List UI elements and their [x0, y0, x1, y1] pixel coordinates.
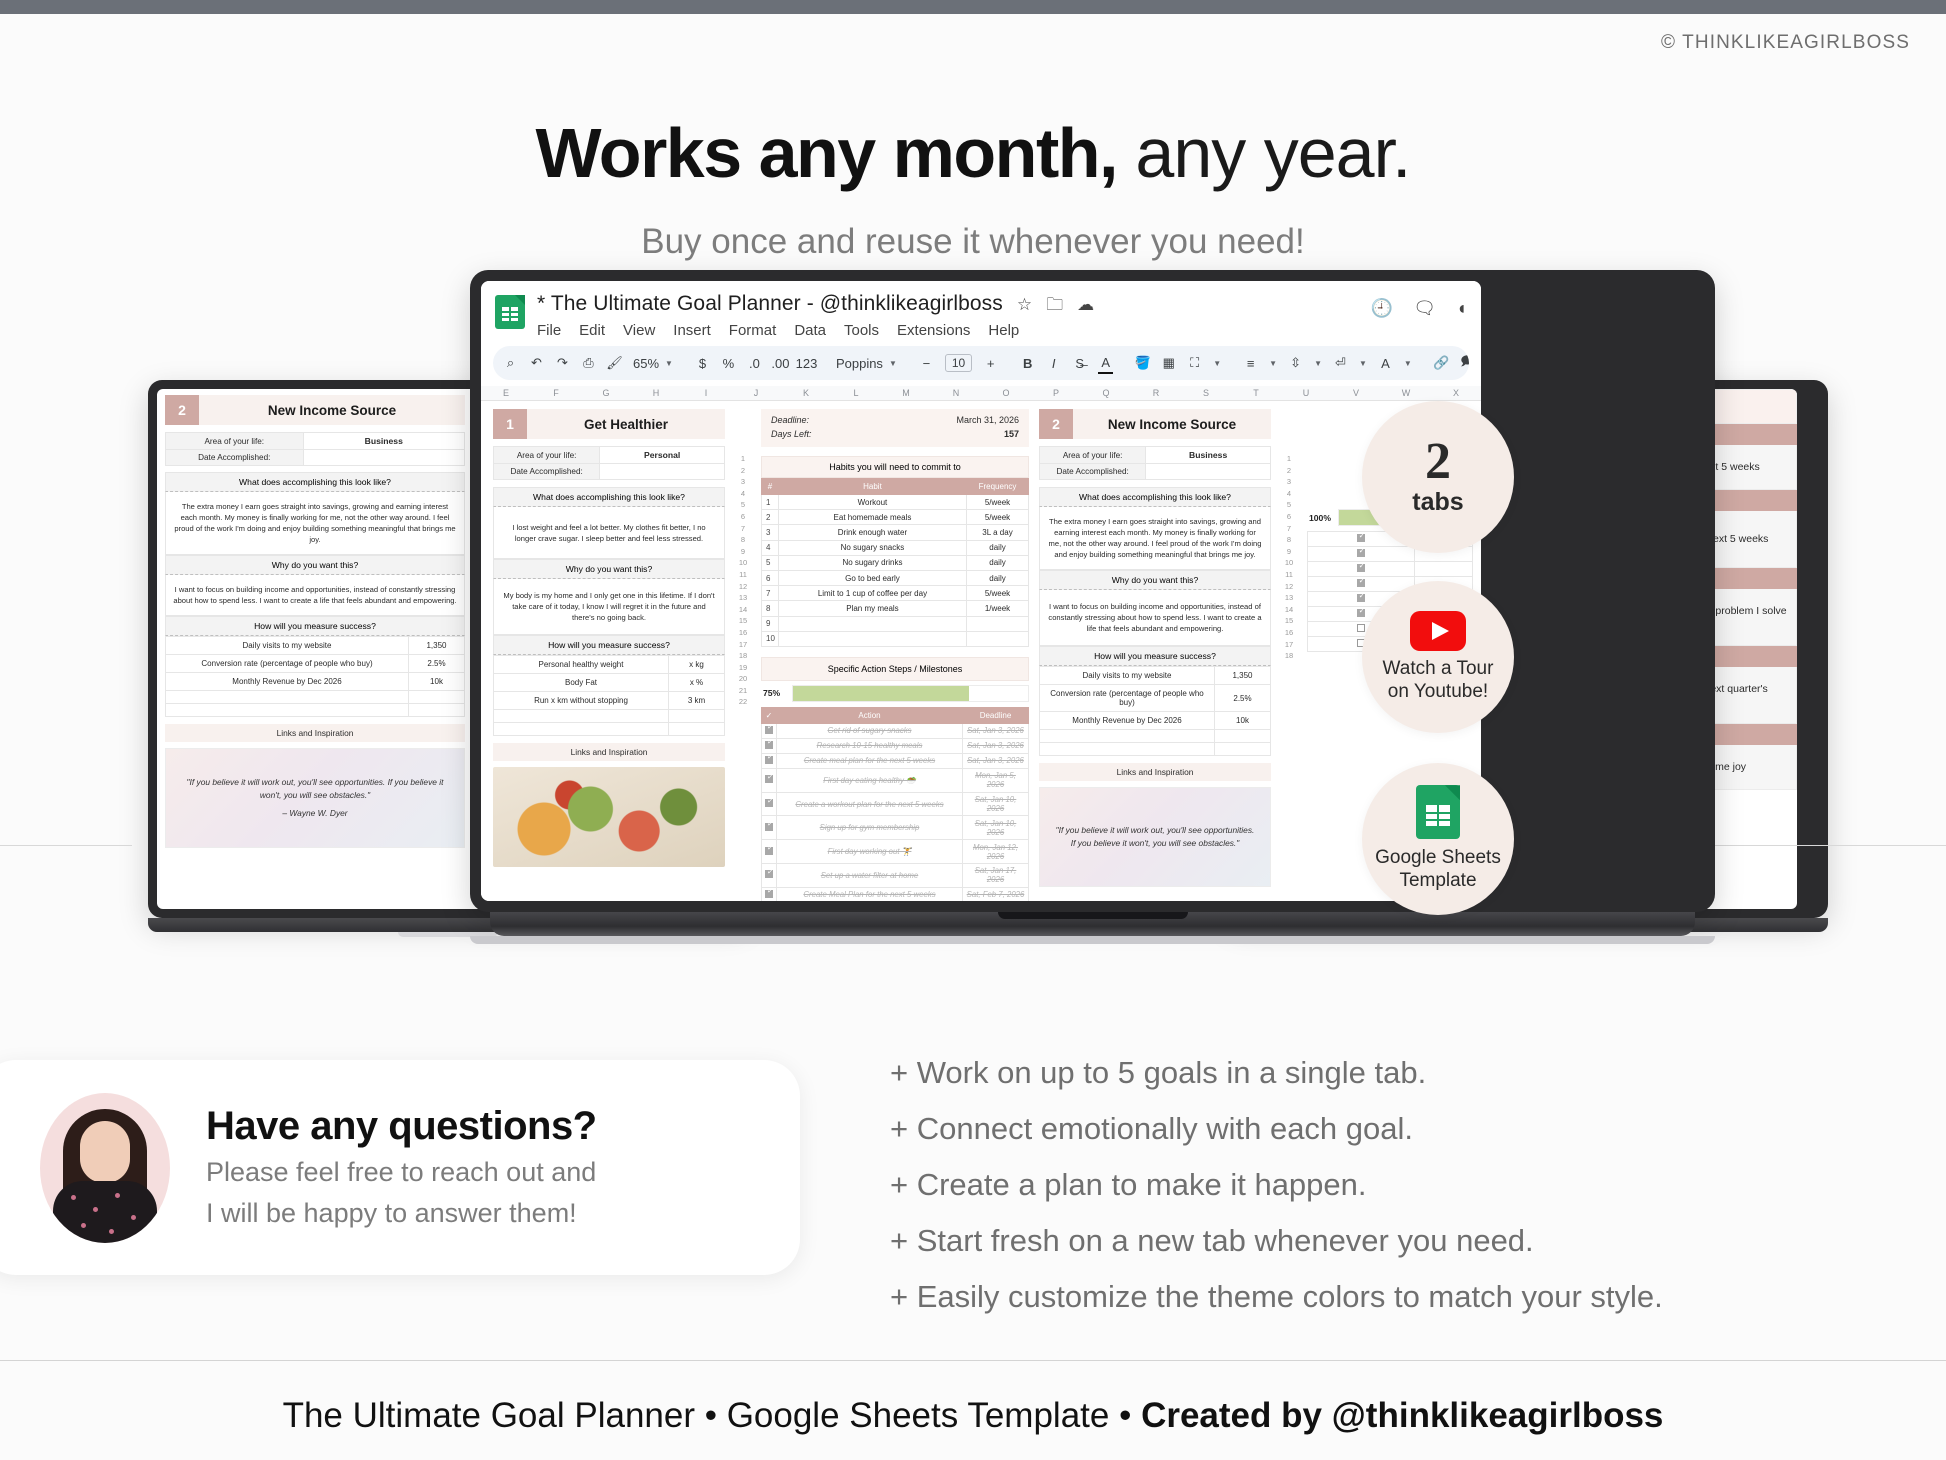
action-row: Get rid of sugary snacksSat, Jan 3, 2026	[762, 723, 1029, 738]
measure-label[interactable]: Monthly Revenue by Dec 2026	[166, 673, 409, 691]
font-selector[interactable]: Poppins ▼	[836, 356, 897, 371]
feature-item: + Start fresh on a new tab whenever you …	[890, 1223, 1663, 1259]
vertical-align-icon[interactable]: ⇳	[1288, 352, 1303, 374]
sheets-titlebar: * The Ultimate Goal Planner - @thinklike…	[481, 281, 1481, 339]
action-text[interactable]: Sign up for gym membership	[777, 816, 963, 840]
goal1-card: 1 Get Healthier Area of your life: Perso…	[493, 409, 725, 901]
paint-format-icon[interactable]: 🖌	[607, 352, 622, 374]
move-to-folder-icon[interactable]: 🗀	[1046, 296, 1063, 313]
measure-label[interactable]	[494, 723, 669, 736]
goal1-title[interactable]: Get Healthier	[527, 409, 725, 439]
menu-view[interactable]: View	[623, 322, 655, 339]
measure-value[interactable]	[409, 691, 465, 704]
look-like-text[interactable]: I lost weight and feel a lot better. My …	[493, 507, 725, 559]
document-title[interactable]: * The Ultimate Goal Planner - @thinklike…	[537, 292, 1003, 316]
date-label: Date Accomplished:	[166, 450, 304, 466]
measure-value[interactable]	[409, 704, 465, 717]
goal1-measures: Personal healthy weightx kg Body Fatx % …	[493, 655, 725, 736]
currency-format-button[interactable]: $	[695, 352, 710, 374]
action-col-check: ✓	[762, 707, 777, 723]
look-like-header: What does accomplishing this look like?	[493, 487, 725, 507]
measure-label[interactable]: Daily visits to my website	[1040, 667, 1215, 685]
action-col-deadline: Deadline	[963, 707, 1029, 723]
habit-name[interactable]: No sugary drinks	[778, 555, 966, 570]
measure-label[interactable]: Daily visits to my website	[166, 637, 409, 655]
area-label: Area of your life:	[166, 433, 304, 450]
habit-frequency[interactable]: 5/week	[967, 495, 1029, 510]
action-deadline[interactable]: Sat, Jan 10, 2026	[963, 792, 1029, 816]
habit-name[interactable]: No sugary snacks	[778, 540, 966, 555]
action-text[interactable]: Create a workout plan for the next 5 wee…	[777, 792, 963, 816]
measure-value[interactable]: 2.5%	[409, 655, 465, 673]
column-header[interactable]: X	[1431, 388, 1481, 398]
action-text[interactable]: Create meal plan for the next 5 weeks	[777, 753, 963, 768]
menu-help[interactable]: Help	[988, 322, 1019, 339]
column-header[interactable]: E	[481, 388, 531, 398]
column-header[interactable]: W	[1381, 388, 1431, 398]
action-checkbox[interactable]	[762, 864, 777, 888]
menu-insert[interactable]: Insert	[673, 322, 711, 339]
habit-row: 4No sugary snacksdaily	[762, 540, 1029, 555]
action-text[interactable]: First day working out 🏋	[777, 840, 963, 864]
google-sheets-icon	[495, 295, 525, 329]
laptop-stage: 2 New Income Source Area of your life: B…	[0, 370, 1946, 1010]
action-checkbox[interactable]	[762, 887, 777, 901]
habit-frequency[interactable]: 3L a day	[967, 525, 1029, 540]
quote-block: "If you believe it will work out, you'll…	[1039, 787, 1271, 887]
text-rotation-icon[interactable]: A	[1378, 352, 1393, 374]
font-name: Poppins	[836, 356, 883, 371]
decrease-font-size-button[interactable]: −	[919, 352, 934, 374]
action-deadline[interactable]: Mon, Jan 12, 2026	[963, 840, 1029, 864]
habit-frequency[interactable]	[967, 631, 1029, 646]
action-row: Research 10-15 healthy mealsSat, Jan 3, …	[762, 738, 1029, 753]
habit-frequency[interactable]: daily	[967, 570, 1029, 585]
goal2-meta: Area of your life: Business Date Accompl…	[1039, 446, 1271, 480]
quote-text: "If you believe it will work out, you'll…	[1054, 824, 1256, 850]
habit-row: 10	[762, 631, 1029, 646]
habit-frequency[interactable]: 5/week	[967, 510, 1029, 525]
headline-bold: Works any month,	[536, 114, 1117, 192]
questions-card: Have any questions? Please feel free to …	[0, 1060, 800, 1275]
column-header[interactable]: R	[1131, 388, 1181, 398]
progress-pct-right: 100%	[1309, 513, 1333, 523]
action-col-action: Action	[777, 707, 963, 723]
menu-data[interactable]: Data	[794, 322, 826, 339]
action-row: Create Meal Plan for the next 5 weeksSat…	[762, 887, 1029, 901]
decrease-decimal-button[interactable]: .0	[747, 352, 762, 374]
milestones-progress: 75%	[761, 681, 1029, 707]
measure-value[interactable]: 1,350	[1215, 667, 1271, 685]
habits-title: Habits you will need to commit to	[761, 456, 1029, 478]
action-checkbox[interactable]	[762, 723, 777, 738]
habit-frequency[interactable]	[967, 616, 1029, 631]
measure-label[interactable]	[494, 710, 669, 723]
footer-bold: Created by @thinklikeagirlboss	[1141, 1396, 1663, 1435]
menu-format[interactable]: Format	[729, 322, 777, 339]
menu-extensions[interactable]: Extensions	[897, 322, 970, 339]
column-header[interactable]: L	[831, 388, 881, 398]
action-deadline[interactable]: Sat, Jan 3, 2026	[963, 753, 1029, 768]
progress-percent: 75%	[763, 688, 787, 698]
left-goal-card: 2 New Income Source Area of your life: B…	[165, 395, 465, 874]
goal1-meta: Area of your life: Personal Date Accompl…	[493, 446, 725, 480]
row-numbers: 12345678910111213141516171819202122	[735, 409, 751, 901]
insert-comment-icon[interactable]: 🗩	[1460, 352, 1469, 374]
action-row: Set up a water filter at homeSat, Jan 17…	[762, 864, 1029, 888]
habit-row: 9	[762, 616, 1029, 631]
goal2-header-left: 2 New Income Source	[165, 395, 465, 425]
measure-label[interactable]	[1040, 743, 1215, 756]
habit-name[interactable]: Drink enough water	[778, 525, 966, 540]
questions-line1: Please feel free to reach out and	[206, 1155, 597, 1190]
action-deadline[interactable]: Sat, Jan 17, 2026	[963, 864, 1029, 888]
goal1-detail-card: Deadline: March 31, 2026 Days Left: 157 …	[761, 409, 1029, 901]
chevron-down-icon[interactable]: ▼	[1314, 359, 1322, 368]
cloud-saved-icon[interactable]: ☁	[1077, 296, 1094, 313]
inspiration-image	[493, 767, 725, 867]
action-checkbox[interactable]	[762, 792, 777, 816]
date-value[interactable]	[1146, 464, 1271, 480]
links-header: Links and Inspiration	[1039, 763, 1271, 781]
column-header[interactable]: P	[1031, 388, 1081, 398]
date-label: Date Accomplished:	[494, 464, 600, 480]
footer-text: The Ultimate Goal Planner • Google Sheet…	[0, 1396, 1946, 1436]
print-icon[interactable]: ⎙	[581, 352, 596, 374]
goal2-title[interactable]: New Income Source	[1073, 409, 1271, 439]
quote-author: – Wayne W. Dyer	[180, 807, 450, 820]
sheets-menubar: File Edit View Insert Format Data Tools …	[537, 322, 1094, 339]
why-header: Why do you want this?	[1039, 570, 1271, 590]
action-row: First day eating healthy 🥗Mon, Jan 5, 20…	[762, 768, 1029, 792]
habit-name[interactable]: Plan my meals	[778, 601, 966, 616]
action-checkbox[interactable]	[762, 753, 777, 768]
chevron-down-icon: ▼	[665, 359, 673, 368]
youtube-icon	[1410, 611, 1466, 651]
column-header[interactable]: F	[531, 388, 581, 398]
column-header[interactable]: I	[681, 388, 731, 398]
column-header[interactable]: S	[1181, 388, 1231, 398]
sheets-line2: Template	[1399, 870, 1476, 893]
measure-value[interactable]	[669, 710, 725, 723]
column-header[interactable]: H	[631, 388, 681, 398]
area-label: Area of your life:	[494, 447, 600, 464]
habit-row: 7Limit to 1 cup of coffee per day5/week	[762, 586, 1029, 601]
measure-value[interactable]	[669, 723, 725, 736]
increase-decimal-button[interactable]: .00	[773, 352, 788, 374]
date-label: Date Accomplished:	[1040, 464, 1146, 480]
deadline-label: Deadline:	[771, 415, 809, 425]
measure-label[interactable]: Personal healthy weight	[494, 656, 669, 674]
percent-format-button[interactable]: %	[721, 352, 736, 374]
date-value[interactable]	[303, 450, 464, 466]
area-value[interactable]: Business	[303, 433, 464, 450]
habit-row: 3Drink enough water3L a day	[762, 525, 1029, 540]
badge-google-sheets: Google Sheets Template	[1362, 763, 1514, 915]
youtube-line1: Watch a Tour	[1383, 658, 1494, 681]
feature-item: + Easily customize the theme colors to m…	[890, 1279, 1663, 1315]
deadline-value[interactable]: March 31, 2026	[956, 415, 1019, 425]
why-header: Why do you want this?	[493, 559, 725, 579]
feature-item: + Connect emotionally with each goal.	[890, 1111, 1663, 1147]
why-header: Why do you want this?	[165, 555, 465, 575]
action-steps-table: ✓ Action Deadline Get rid of sugary snac…	[761, 707, 1029, 901]
google-sheets-icon-large	[1416, 785, 1460, 839]
quote-text: "If you believe it will work out, you'll…	[180, 776, 450, 802]
goal1-number: 1	[493, 409, 527, 439]
goal1-deadline-block: Deadline: March 31, 2026 Days Left: 157	[761, 409, 1029, 447]
habit-name[interactable]	[778, 616, 966, 631]
chevron-down-icon: ▼	[889, 359, 897, 368]
date-value[interactable]	[600, 464, 725, 480]
habit-row: 1Workout5/week	[762, 495, 1029, 510]
days-left-value: 157	[1004, 429, 1019, 439]
links-header: Links and Inspiration	[493, 743, 725, 761]
quote-block-left: "If you believe it will work out, you'll…	[165, 748, 465, 848]
horizontal-align-icon[interactable]: ≡	[1243, 352, 1258, 374]
habits-table: # Habit Frequency 1Workout5/week 2Eat ho…	[761, 478, 1029, 647]
measure-label[interactable]	[1040, 730, 1215, 743]
zoom-selector[interactable]: 65% ▼	[633, 356, 673, 371]
action-deadline[interactable]: Sat, Jan 10, 2026	[963, 816, 1029, 840]
days-left-label: Days Left:	[771, 429, 812, 439]
merge-cells-icon[interactable]: ⛶	[1187, 352, 1202, 374]
row-numbers-right: 123456789101112131415161718	[1281, 409, 1297, 901]
look-like-header: What does accomplishing this look like?	[1039, 487, 1271, 507]
measure-value[interactable]: 1,350	[409, 637, 465, 655]
sheets-toolbar: ⌕ ↶ ↷ ⎙ 🖌 65% ▼ $ % .0 .00 123	[493, 346, 1469, 380]
column-header[interactable]: N	[931, 388, 981, 398]
column-header[interactable]: V	[1331, 388, 1381, 398]
action-checkbox[interactable]	[762, 768, 777, 792]
look-like-text[interactable]: The extra money I earn goes straight int…	[165, 492, 465, 555]
why-text[interactable]: I want to focus on building income and o…	[165, 575, 465, 616]
column-header[interactable]: T	[1231, 388, 1281, 398]
measure-value[interactable]: 3 km	[669, 692, 725, 710]
action-row: Sign up for gym membershipSat, Jan 10, 2…	[762, 816, 1029, 840]
column-header[interactable]: J	[731, 388, 781, 398]
sheets-line1: Google Sheets	[1375, 847, 1501, 870]
search-icon[interactable]: ⌕	[503, 352, 518, 374]
column-header[interactable]: U	[1281, 388, 1331, 398]
avatar	[40, 1093, 170, 1243]
sheet-body: 1 Get Healthier Area of your life: Perso…	[481, 401, 1481, 901]
sheets-header-actions: 🕘 🗨 ◖	[1371, 292, 1467, 319]
measure-label[interactable]: Run x km without stopping	[494, 692, 669, 710]
action-row: Create meal plan for the next 5 weeksSat…	[762, 753, 1029, 768]
measure-header: How will you measure success?	[493, 635, 725, 655]
area-value[interactable]: Business	[1146, 447, 1271, 464]
questions-title: Have any questions?	[206, 1104, 597, 1149]
version-history-icon[interactable]: 🕘	[1371, 298, 1393, 319]
action-text[interactable]: Research 10-15 healthy meals	[777, 738, 963, 753]
habit-frequency[interactable]: daily	[967, 540, 1029, 555]
habit-name[interactable]: Limit to 1 cup of coffee per day	[778, 586, 966, 601]
measure-value[interactable]	[1215, 743, 1271, 756]
tabs-label: tabs	[1412, 488, 1463, 517]
habit-name[interactable]: Eat homemade meals	[778, 510, 966, 525]
fill-color-icon[interactable]: 🪣	[1135, 352, 1150, 374]
habit-row: 2Eat homemade meals5/week	[762, 510, 1029, 525]
look-like-header: What does accomplishing this look like?	[165, 472, 465, 492]
action-text[interactable]: First day eating healthy 🥗	[777, 768, 963, 792]
measure-value[interactable]: 10k	[1215, 712, 1271, 730]
why-text[interactable]: My body is my home and I only get one in…	[493, 579, 725, 635]
measure-value[interactable]: x kg	[669, 656, 725, 674]
column-header-row: E F G H I J K L M N O P Q R S T U	[481, 386, 1481, 401]
goal2-measures: Daily visits to my website1,350 Conversi…	[1039, 666, 1271, 756]
column-header[interactable]: G	[581, 388, 631, 398]
action-checkbox[interactable]	[762, 840, 777, 864]
page-headline: Works any month, any year.	[0, 118, 1946, 188]
tabs-count: 2	[1425, 437, 1451, 486]
increase-font-size-button[interactable]: +	[983, 352, 998, 374]
habit-frequency[interactable]: daily	[967, 555, 1029, 570]
strikethrough-button[interactable]: S̶	[1072, 352, 1087, 374]
area-label: Area of your life:	[1040, 447, 1146, 464]
look-like-text[interactable]: The extra money I earn goes straight int…	[1039, 507, 1271, 570]
habits-col-num: #	[762, 479, 779, 495]
divider-bottom	[0, 1360, 1946, 1361]
action-deadline[interactable]: Sat, Feb 7, 2026	[963, 887, 1029, 901]
badge-youtube[interactable]: Watch a Tour on Youtube!	[1362, 581, 1514, 733]
action-deadline[interactable]: Sat, Jan 3, 2026	[963, 723, 1029, 738]
measure-label[interactable]	[166, 691, 409, 704]
habit-frequency[interactable]: 1/week	[967, 601, 1029, 616]
star-icon[interactable]: ☆	[1017, 296, 1032, 313]
measure-label[interactable]: Monthly Revenue by Dec 2026	[1040, 712, 1215, 730]
action-deadline[interactable]: Mon, Jan 5, 2026	[963, 768, 1029, 792]
goal2-header: 2 New Income Source	[1039, 409, 1271, 439]
questions-line2: I will be happy to answer them!	[206, 1196, 597, 1231]
goal2-card: 2 New Income Source Area of your life: B…	[1039, 409, 1271, 901]
feature-item: + Create a plan to make it happen.	[890, 1167, 1663, 1203]
measure-label[interactable]	[166, 704, 409, 717]
insert-link-icon[interactable]: 🔗	[1434, 352, 1449, 374]
font-size-input[interactable]: 10	[945, 354, 972, 372]
chevron-down-icon[interactable]: ▼	[1213, 359, 1221, 368]
feature-item: + Work on up to 5 goals in a single tab.	[890, 1055, 1663, 1091]
action-text[interactable]: Create Meal Plan for the next 5 weeks	[777, 887, 963, 901]
measure-value[interactable]: 2.5%	[1215, 685, 1271, 712]
goal2-title-left: New Income Source	[199, 395, 465, 425]
column-header[interactable]: K	[781, 388, 831, 398]
progress-bar	[792, 685, 1029, 702]
top-accent-bar	[0, 0, 1946, 14]
measure-value[interactable]: 10k	[409, 673, 465, 691]
comment-icon[interactable]: 🗨	[1413, 298, 1436, 319]
goal2-measures-left: Daily visits to my website1,350 Conversi…	[165, 636, 465, 717]
links-header: Links and Inspiration	[165, 724, 465, 742]
column-header[interactable]: Q	[1081, 388, 1131, 398]
action-text[interactable]: Set up a water filter at home	[777, 864, 963, 888]
measure-label[interactable]: Conversion rate (percentage of people wh…	[166, 655, 409, 673]
action-deadline[interactable]: Sat, Jan 3, 2026	[963, 738, 1029, 753]
page-subheadline: Buy once and reuse it whenever you need!	[0, 222, 1946, 262]
habit-name[interactable]	[778, 631, 966, 646]
italic-button[interactable]: I	[1046, 352, 1061, 374]
measure-label[interactable]: Body Fat	[494, 674, 669, 692]
meet-icon[interactable]: ◖	[1456, 298, 1467, 319]
redo-icon[interactable]: ↷	[555, 352, 570, 374]
text-wrap-icon[interactable]: ⏎	[1333, 352, 1348, 374]
action-row: Create a workout plan for the next 5 wee…	[762, 792, 1029, 816]
menu-file[interactable]: File	[537, 322, 561, 339]
laptop-center: * The Ultimate Goal Planner - @thinklike…	[470, 270, 1715, 944]
copyright-text: © THINKLIKEAGIRLBOSS	[1661, 32, 1910, 54]
action-row: First day working out 🏋Mon, Jan 12, 2026	[762, 840, 1029, 864]
habit-frequency[interactable]: 5/week	[967, 586, 1029, 601]
zoom-value: 65%	[633, 356, 659, 371]
bold-button[interactable]: B	[1020, 352, 1035, 374]
headline-light: any year.	[1117, 114, 1411, 192]
youtube-line2: on Youtube!	[1388, 681, 1488, 704]
column-header[interactable]: M	[881, 388, 931, 398]
more-formats-button[interactable]: 123	[799, 352, 814, 374]
chevron-down-icon[interactable]: ▼	[1359, 359, 1367, 368]
action-text[interactable]: Get rid of sugary snacks	[777, 723, 963, 738]
undo-icon[interactable]: ↶	[529, 352, 544, 374]
measure-header: How will you measure success?	[165, 616, 465, 636]
habits-col-frequency: Frequency	[967, 479, 1029, 495]
menu-tools[interactable]: Tools	[844, 322, 879, 339]
measure-value[interactable]	[1215, 730, 1271, 743]
habit-row: 6Go to bed earlydaily	[762, 570, 1029, 585]
milestones-title: Specific Action Steps / Milestones	[761, 657, 1029, 681]
goal2-number-left: 2	[165, 395, 199, 425]
google-sheets-window: * The Ultimate Goal Planner - @thinklike…	[481, 281, 1481, 901]
area-value[interactable]: Personal	[600, 447, 725, 464]
goal2-number: 2	[1039, 409, 1073, 439]
divider-left	[0, 845, 132, 846]
chevron-down-icon[interactable]: ▼	[1404, 359, 1412, 368]
footer-plain: The Ultimate Goal Planner • Google Sheet…	[283, 1396, 1141, 1435]
measure-value[interactable]: x %	[669, 674, 725, 692]
goal1-header: 1 Get Healthier	[493, 409, 725, 439]
column-header[interactable]: O	[981, 388, 1031, 398]
habit-name[interactable]: Go to bed early	[778, 570, 966, 585]
action-checkbox[interactable]	[762, 816, 777, 840]
measure-label[interactable]: Conversion rate (percentage of people wh…	[1040, 685, 1215, 712]
menu-edit[interactable]: Edit	[579, 322, 605, 339]
action-checkbox[interactable]	[762, 738, 777, 753]
borders-icon[interactable]: ▦	[1161, 352, 1176, 374]
goal2-meta-left: Area of your life: Business Date Accompl…	[165, 432, 465, 466]
habit-row: 8Plan my meals1/week	[762, 601, 1029, 616]
badge-tabs: 2 tabs	[1362, 401, 1514, 553]
chevron-down-icon[interactable]: ▼	[1269, 359, 1277, 368]
text-color-button[interactable]: A	[1098, 352, 1113, 374]
measure-header: How will you measure success?	[1039, 646, 1271, 666]
feature-list: + Work on up to 5 goals in a single tab.…	[890, 1055, 1663, 1335]
habit-row: 5No sugary drinksdaily	[762, 555, 1029, 570]
habit-name[interactable]: Workout	[778, 495, 966, 510]
why-text[interactable]: I want to focus on building income and o…	[1039, 590, 1271, 646]
habits-col-habit: Habit	[778, 479, 966, 495]
